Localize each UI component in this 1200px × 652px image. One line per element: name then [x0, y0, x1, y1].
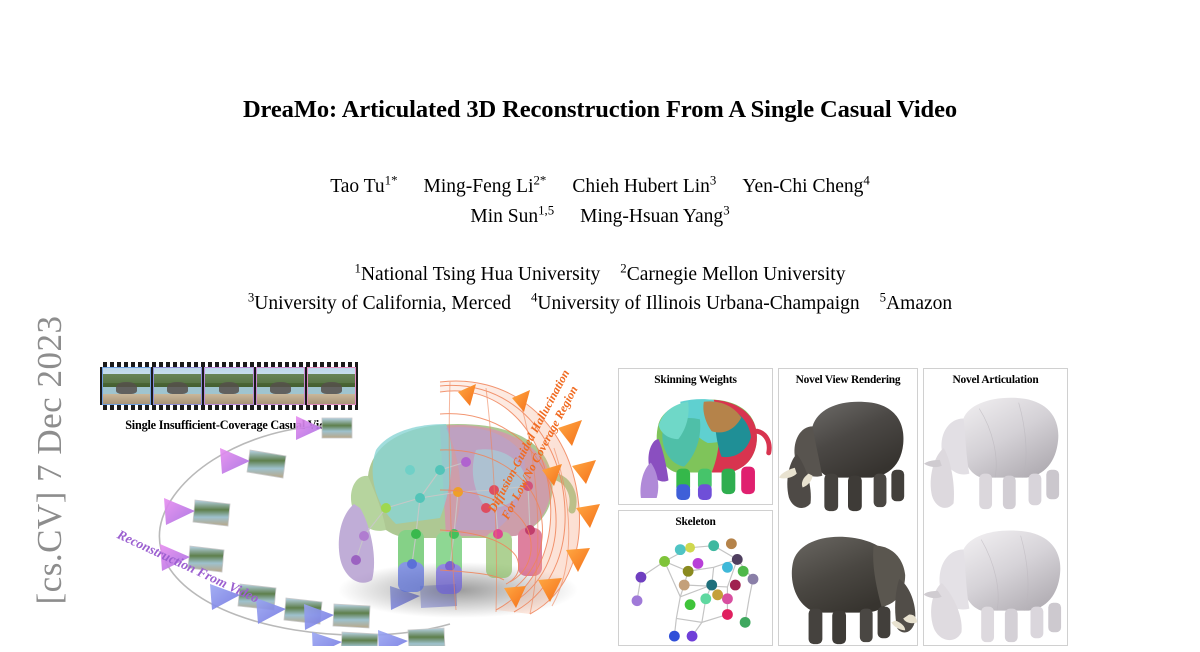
affiliation: 4University of Illinois Urbana-Champaign: [531, 293, 860, 314]
page-title: DreaMo: Articulated 3D Reconstruction Fr…: [0, 96, 1200, 124]
camera-frustum: [220, 448, 286, 478]
camera-frustum: [164, 498, 230, 526]
panel-skeleton: Skeleton: [618, 510, 773, 646]
author-affil-marker: 1,5: [538, 204, 554, 218]
video-frame: [204, 367, 253, 405]
panel-skinning-weights: Skinning Weights: [618, 368, 773, 505]
affiliation: 5Amazon: [880, 293, 953, 314]
author-affil-marker: 3: [710, 174, 716, 188]
panel-novel-articulation: Novel Articulation: [923, 368, 1068, 646]
arxiv-stamp: [cs.CV] 7 Dec 2023: [30, 270, 70, 650]
author-affil-marker: 3: [723, 204, 729, 218]
panel-title: Novel View Rendering: [779, 369, 917, 386]
author-line-1: Tao Tu1*Ming-Feng Li2*Chieh Hubert Lin3Y…: [0, 172, 1200, 202]
affiliation-list: 1National Tsing Hua University2Carnegie …: [0, 260, 1200, 318]
panel-novel-view-rendering: Novel View Rendering: [778, 368, 918, 646]
author: Min Sun1,5: [470, 206, 554, 227]
affiliation-line-1: 1National Tsing Hua University2Carnegie …: [0, 260, 1200, 289]
author: Ming-Feng Li2*: [424, 176, 547, 197]
panel-title: Novel Articulation: [924, 369, 1067, 386]
author-list: Tao Tu1*Ming-Feng Li2*Chieh Hubert Lin3Y…: [0, 172, 1200, 232]
panel-title: Skinning Weights: [619, 369, 772, 386]
novel-view-render-2: [779, 519, 917, 647]
affiliation-line-2: 3University of California, Merced4Univer…: [0, 289, 1200, 318]
affiliation: 1National Tsing Hua University: [355, 264, 601, 285]
skinning-weights-image: [619, 386, 772, 501]
panel-title: Skeleton: [619, 511, 772, 528]
novel-view-render-1: [779, 386, 917, 514]
author: Ming-Hsuan Yang3: [580, 206, 729, 227]
video-frame: [153, 367, 202, 405]
author: Chieh Hubert Lin3: [572, 176, 716, 197]
author: Tao Tu1*: [330, 176, 397, 197]
author-affil-marker: 4: [863, 174, 869, 188]
novel-articulation-mesh-1: [924, 386, 1067, 514]
teaser-figure: Single Insufficient-Coverage Casual Vide…: [90, 358, 1100, 646]
affiliation: 3University of California, Merced: [248, 293, 511, 314]
reconstruction-stage: [290, 358, 630, 646]
author-affil-marker: 1*: [385, 174, 398, 188]
results-panels: Skinning Weights: [618, 368, 1100, 646]
author: Yen-Chi Cheng4: [742, 176, 869, 197]
author-affil-marker: 2*: [534, 174, 547, 188]
author-line-2: Min Sun1,5Ming-Hsuan Yang3: [0, 202, 1200, 232]
novel-articulation-mesh-2: [924, 519, 1067, 647]
video-frame: [102, 367, 151, 405]
skeleton-image: [619, 528, 772, 642]
affiliation: 2Carnegie Mellon University: [620, 264, 845, 285]
